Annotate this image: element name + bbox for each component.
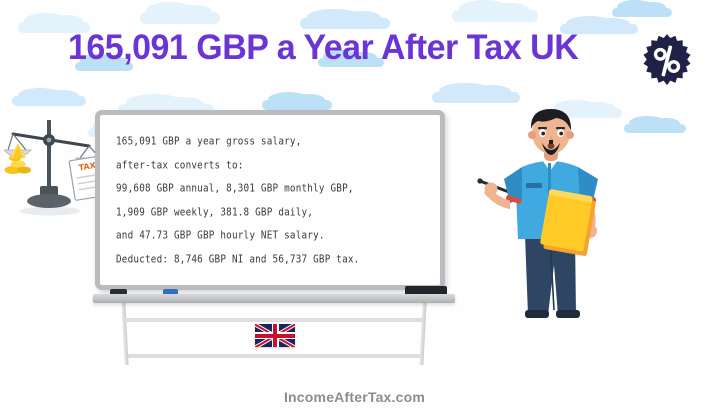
balance-scales: TAX — [4, 108, 108, 218]
site-watermark: IncomeAfterTax.com — [0, 389, 709, 405]
cloud-icon — [432, 92, 520, 103]
cloud-icon — [262, 100, 332, 110]
teacher-brow-right — [556, 127, 565, 129]
cloud-icon — [140, 12, 220, 24]
page-title: 165,091 GBP a Year After Tax UK — [68, 28, 631, 68]
teacher-name-badge — [526, 183, 542, 188]
scales-base — [27, 194, 71, 208]
whiteboard-surface: 165,091 GBP a year gross salary, after-t… — [100, 115, 440, 285]
union-jack-flag-icon — [255, 324, 295, 347]
whiteboard-tray — [93, 294, 455, 303]
whiteboard-crossbar-lower — [128, 354, 420, 358]
teacher-brow-left — [538, 127, 547, 129]
board-line: Deducted: 8,746 GBP NI and 56,737 GBP ta… — [116, 246, 440, 274]
whiteboard-crossbar-upper — [125, 318, 423, 322]
scales-beam — [13, 134, 89, 146]
teacher-ear-right — [566, 131, 574, 139]
teacher-shoe-left — [525, 310, 549, 318]
cloud-icon — [452, 10, 538, 22]
teacher-head — [528, 109, 574, 155]
teacher-character — [470, 105, 640, 320]
cloud-icon — [612, 8, 672, 17]
teacher-ear-left — [528, 131, 536, 139]
poster-canvas: 165,091 GBP a Year After Tax UK — [0, 0, 709, 419]
whiteboard: 165,091 GBP a year gross salary, after-t… — [95, 110, 465, 320]
teacher-shoe-right — [556, 310, 580, 318]
cloud-icon — [12, 96, 86, 106]
yellow-folder-icon — [539, 189, 597, 256]
whiteboard-frame: 165,091 GBP a year gross salary, after-t… — [95, 110, 445, 290]
percent-badge — [639, 33, 695, 89]
teacher-hand-left — [485, 183, 498, 196]
whiteboard-leg-right — [419, 303, 426, 365]
